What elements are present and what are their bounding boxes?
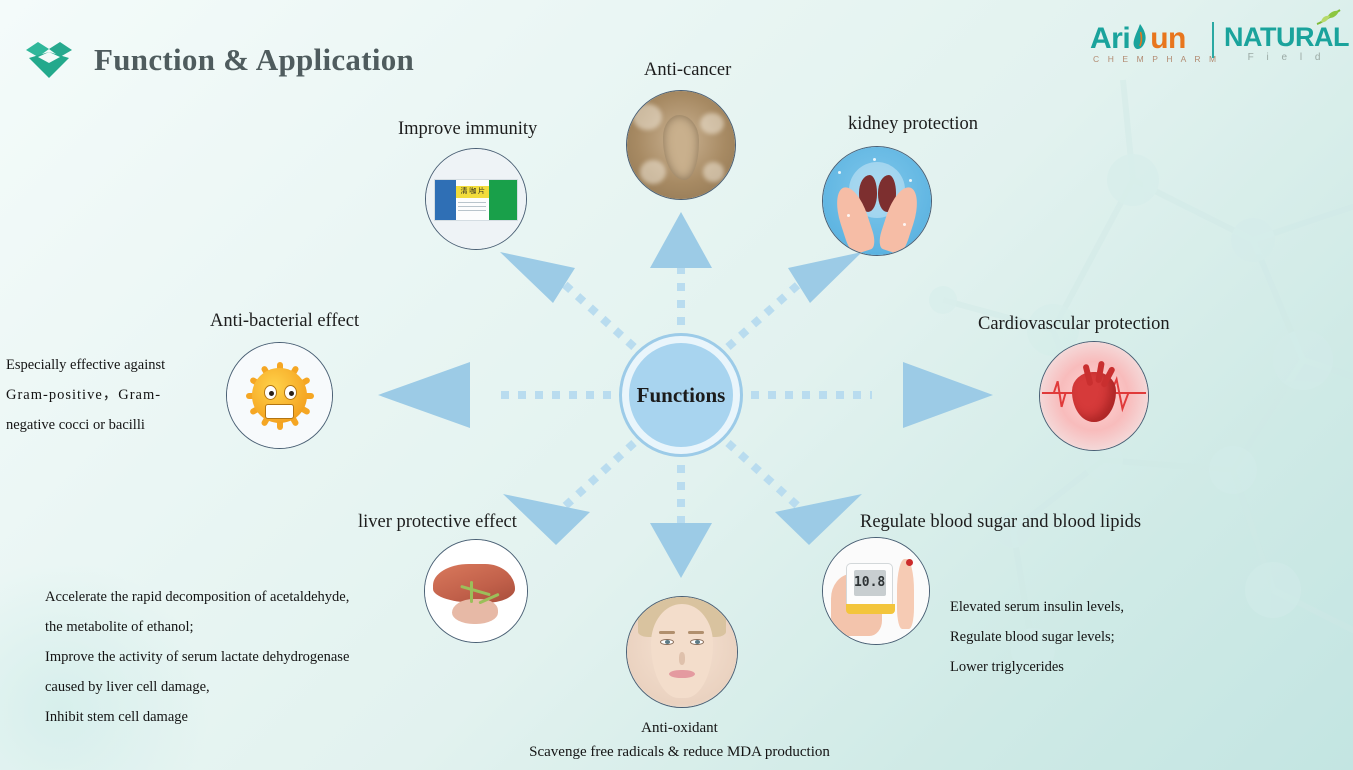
glucose-meter-photo: 10.8 bbox=[823, 538, 929, 644]
hands-holding-kidneys-illustration bbox=[823, 147, 931, 255]
logo-brand-primary: Ari un C H E M P H A R M bbox=[1090, 22, 1219, 64]
detail-line: the metabolite of ethanol; bbox=[45, 612, 465, 642]
slide-canvas: Function & Application Ari un C H E M P … bbox=[0, 0, 1353, 770]
logo-subtitle-chempharm: C H E M P H A R M bbox=[1090, 54, 1219, 64]
detail-line: Regulate blood sugar levels; bbox=[950, 622, 1230, 652]
caption-anti-oxidant: Anti-oxidant Scavenge free radicals & re… bbox=[453, 716, 906, 764]
page-title: Function & Application bbox=[94, 42, 414, 78]
node-anti-oxidant[interactable] bbox=[626, 596, 738, 708]
logo-sprout-icon bbox=[1313, 8, 1343, 31]
arrow-right bbox=[903, 362, 993, 428]
label-improve-immunity: Improve immunity bbox=[398, 119, 537, 140]
detail-liver: Accelerate the rapid decomposition of ac… bbox=[45, 582, 465, 732]
product-box-blue-panel bbox=[435, 180, 456, 220]
detail-blood-sugar: Elevated serum insulin levels, Regulate … bbox=[950, 592, 1230, 682]
node-kidney-protection[interactable] bbox=[822, 146, 932, 256]
germ-eye-right bbox=[284, 385, 297, 400]
germ-mouth bbox=[265, 404, 294, 419]
germ-eye-left bbox=[264, 385, 277, 400]
functions-hub[interactable]: Functions bbox=[619, 333, 743, 457]
detail-line: Lower triglycerides bbox=[950, 652, 1230, 682]
logo-text-un: un bbox=[1150, 22, 1186, 55]
label-cardiovascular-protection: Cardiovascular protection bbox=[978, 314, 1170, 335]
product-box-green-panel bbox=[489, 180, 517, 220]
cartoon-germ-illustration bbox=[227, 343, 332, 448]
nose-shape bbox=[679, 652, 686, 665]
logo-subtitle-field: F i e l d bbox=[1224, 52, 1349, 63]
functions-hub-inner: Functions bbox=[629, 343, 733, 447]
woman-face-photo bbox=[627, 597, 737, 707]
product-box-label-lines bbox=[458, 202, 486, 214]
arrow-up-left bbox=[500, 252, 575, 303]
arrow-left bbox=[378, 362, 470, 428]
node-improve-immunity[interactable]: 清 咖 片 bbox=[425, 148, 527, 250]
detail-line: Improve the activity of serum lactate de… bbox=[45, 642, 465, 672]
blood-drop bbox=[906, 559, 913, 566]
eyebrow-right bbox=[688, 631, 705, 634]
node-cardiovascular-protection[interactable] bbox=[1039, 341, 1149, 451]
caption-detail: Scavenge free radicals & reduce MDA prod… bbox=[453, 740, 906, 764]
detail-anti-bacterial: Especially effective against Gram-positi… bbox=[6, 350, 216, 440]
cancer-cell-photo bbox=[627, 91, 735, 199]
label-kidney-protection: kidney protection bbox=[848, 114, 978, 135]
functions-hub-label: Functions bbox=[637, 383, 726, 408]
cancer-cell-core bbox=[663, 115, 700, 180]
finger-shape bbox=[897, 559, 914, 629]
node-anti-bacterial-effect[interactable] bbox=[226, 342, 333, 449]
detail-line: Accelerate the rapid decomposition of ac… bbox=[45, 582, 465, 612]
medicine-box-photo: 清 咖 片 bbox=[426, 149, 526, 249]
detail-line: negative cocci or bacilli bbox=[6, 410, 216, 440]
open-box-icon bbox=[22, 36, 76, 84]
caption-title: Anti-oxidant bbox=[453, 716, 906, 740]
glucose-meter-reading: 10.8 bbox=[854, 570, 886, 596]
product-box-graphic: 清 咖 片 bbox=[434, 179, 518, 221]
arrow-up bbox=[650, 212, 712, 268]
label-regulate-blood-sugar: Regulate blood sugar and blood lipids bbox=[860, 512, 1141, 533]
label-liver-protective-effect: liver protective effect bbox=[358, 512, 517, 533]
eyebrow-left bbox=[659, 631, 676, 634]
logo-brand-secondary: NATURAL F i e l d bbox=[1224, 22, 1349, 63]
detail-line: Especially effective against bbox=[6, 350, 216, 380]
logo-divider bbox=[1212, 22, 1214, 58]
arrow-down bbox=[650, 523, 712, 578]
test-strip bbox=[846, 604, 895, 615]
node-regulate-blood-sugar[interactable]: 10.8 bbox=[822, 537, 930, 645]
heart-ecg-illustration bbox=[1040, 342, 1148, 450]
detail-line: Elevated serum insulin levels, bbox=[950, 592, 1230, 622]
node-anti-cancer[interactable] bbox=[626, 90, 736, 200]
logo-leaf-icon bbox=[1130, 22, 1150, 57]
arrow-up-right bbox=[788, 252, 862, 303]
logo-text-ari: Ari bbox=[1090, 22, 1130, 55]
detail-line: Inhibit stem cell damage bbox=[45, 702, 465, 732]
detail-line: caused by liver cell damage, bbox=[45, 672, 465, 702]
glucose-meter-device: 10.8 bbox=[846, 563, 893, 608]
label-anti-cancer: Anti-cancer bbox=[644, 60, 731, 81]
detail-line: Gram-positive，Gram- bbox=[6, 380, 216, 410]
company-logo: Ari un C H E M P H A R M bbox=[1084, 14, 1339, 72]
face-shape bbox=[651, 604, 713, 699]
label-anti-bacterial-effect: Anti-bacterial effect bbox=[210, 311, 359, 332]
page-header: Function & Application bbox=[22, 36, 414, 84]
bile-duct-b bbox=[470, 581, 473, 603]
product-box-text: 清 咖 片 bbox=[458, 186, 488, 197]
